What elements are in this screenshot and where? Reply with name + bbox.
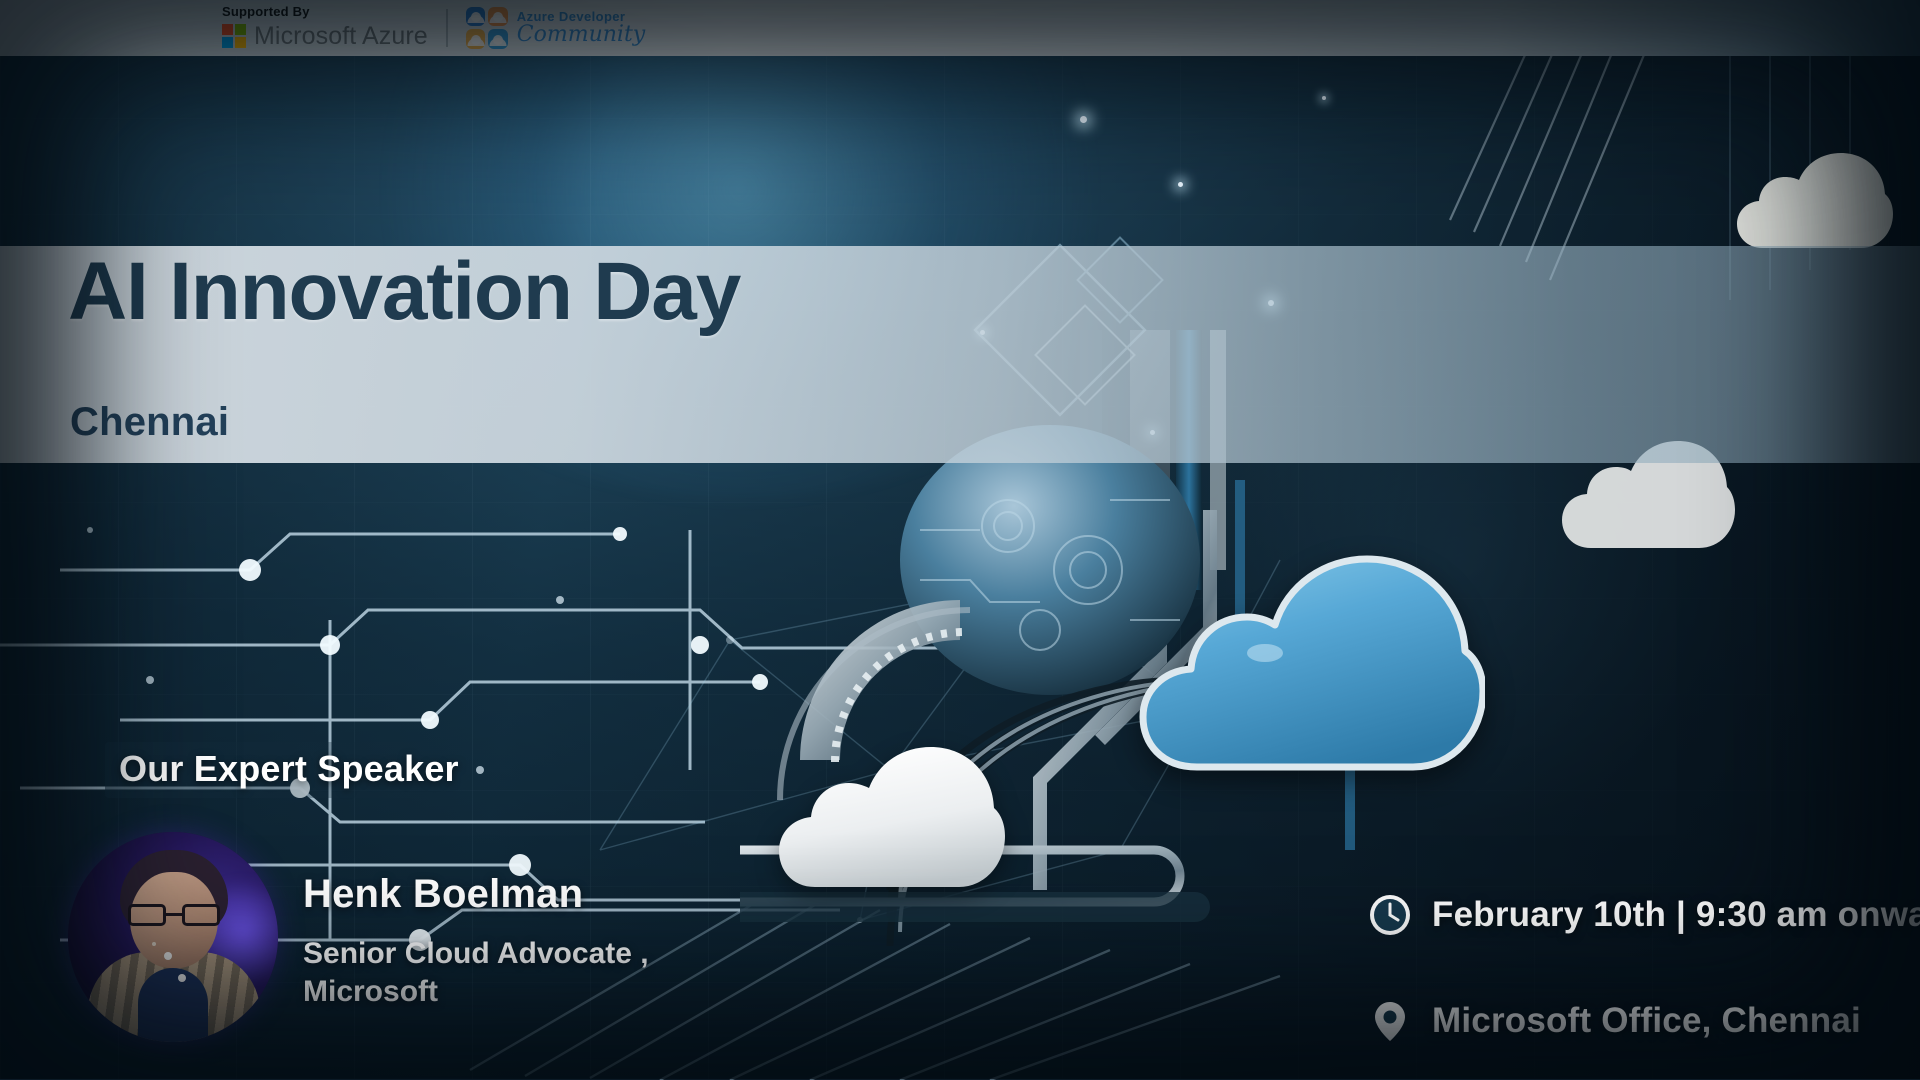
vignette-overlay [0, 0, 1920, 1079]
